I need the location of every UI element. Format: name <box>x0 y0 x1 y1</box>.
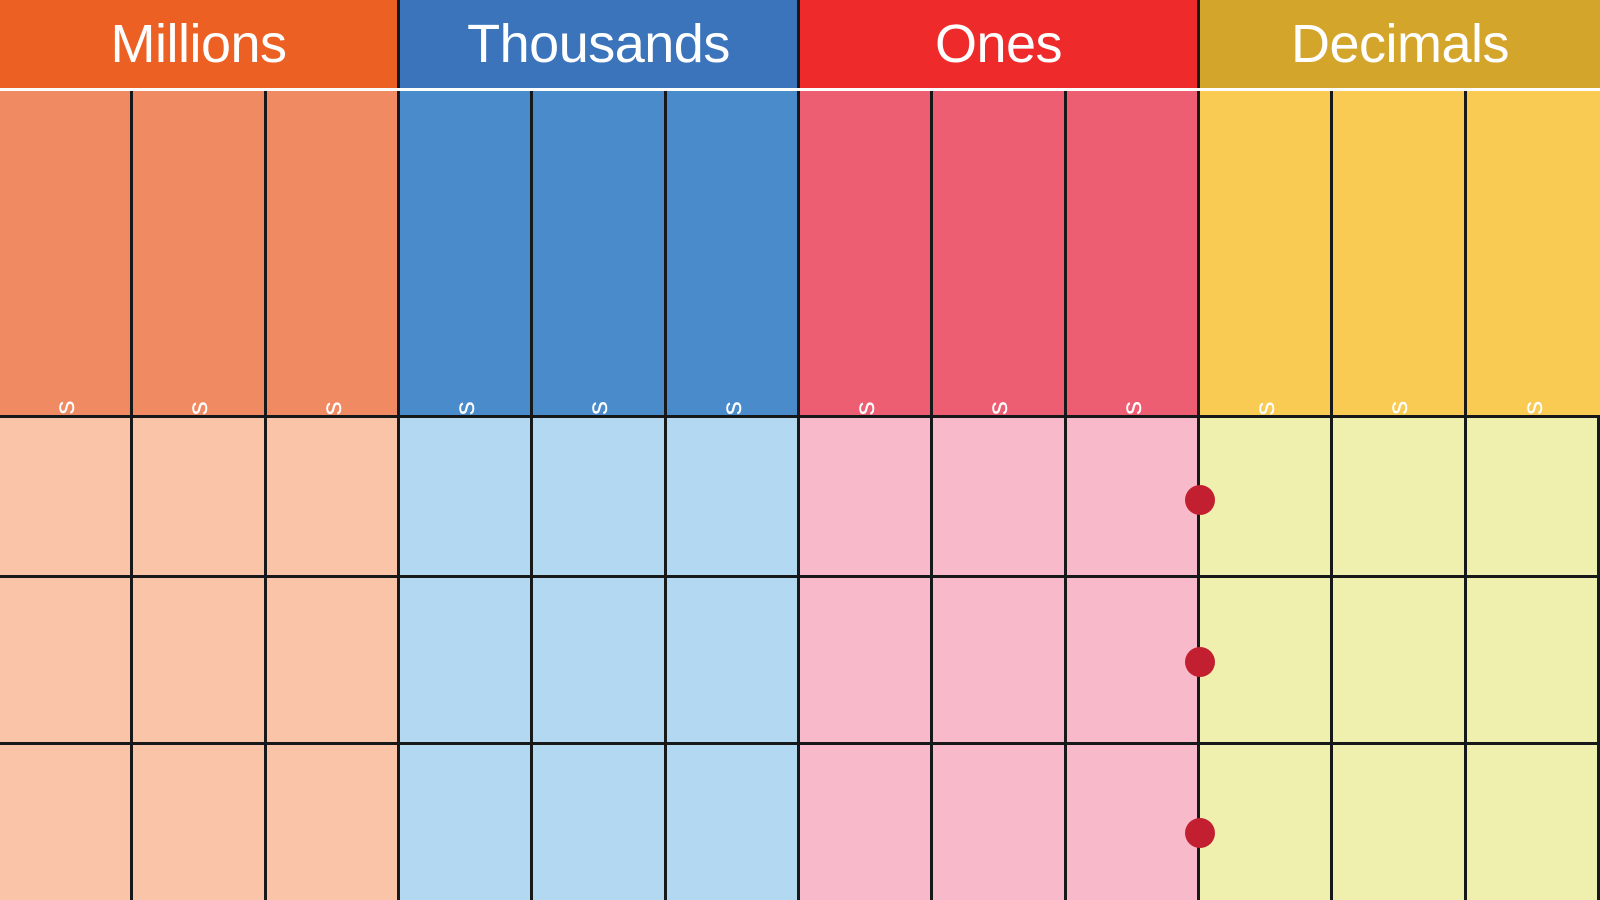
group-header-ones: Ones <box>800 0 1200 88</box>
digit-cell-hundredths[interactable] <box>1333 578 1466 742</box>
digit-cell-hundred-millions[interactable] <box>0 418 133 575</box>
digit-cell-hundred-thousands[interactable] <box>400 745 533 900</box>
entry-grid <box>0 418 1600 900</box>
column-label-cell: Ten Thousands <box>533 91 666 418</box>
table-row <box>0 578 1600 745</box>
digit-cell-hundred-thousands[interactable] <box>400 418 533 575</box>
column-label-hundred-thousands: Hundred Thousands <box>451 401 479 418</box>
group-header-millions: Millions <box>0 0 400 88</box>
digit-cell-thousands[interactable] <box>667 745 800 900</box>
column-label-cell: Hundredths <box>1333 91 1466 418</box>
column-label-thousands: thousands <box>718 401 746 418</box>
column-label-tenths: Tenths <box>1251 401 1279 418</box>
digit-cell-ten-thousands[interactable] <box>533 578 666 742</box>
digit-cell-millions[interactable] <box>267 578 400 742</box>
table-row <box>0 745 1600 900</box>
digit-cell-ten-millions[interactable] <box>133 745 266 900</box>
column-label-hundreds: Hundreds <box>851 401 879 418</box>
digit-cell-hundred-thousands[interactable] <box>400 578 533 742</box>
group-header-thousands: Thousands <box>400 0 800 88</box>
digit-cell-tenths[interactable] <box>1200 745 1333 900</box>
column-label-hundred-millions: Hundred Millions <box>51 401 79 418</box>
digit-cell-ten-thousands[interactable] <box>533 745 666 900</box>
digit-cell-thousandths[interactable] <box>1467 418 1600 575</box>
digit-cell-ten-millions[interactable] <box>133 418 266 575</box>
digit-cell-hundreds[interactable] <box>800 418 933 575</box>
digit-cell-hundred-millions[interactable] <box>0 578 133 742</box>
column-label-ones: Ones <box>1118 401 1146 418</box>
column-label-row: Hundred MillionsTen MillionsMillionsHund… <box>0 91 1600 418</box>
digit-cell-thousandths[interactable] <box>1467 745 1600 900</box>
digit-cell-ten-millions[interactable] <box>133 578 266 742</box>
digit-cell-hundredths[interactable] <box>1333 418 1466 575</box>
digit-cell-thousands[interactable] <box>667 578 800 742</box>
column-label-ten-millions: Ten Millions <box>184 401 212 418</box>
digit-cell-thousands[interactable] <box>667 418 800 575</box>
digit-cell-thousandths[interactable] <box>1467 578 1600 742</box>
column-label-cell: thousands <box>667 91 800 418</box>
column-label-cell: Hundred Thousands <box>400 91 533 418</box>
digit-cell-ones[interactable] <box>1067 745 1200 900</box>
digit-cell-tens[interactable] <box>933 578 1066 742</box>
column-label-tens: Tens <box>984 401 1012 418</box>
column-label-cell: Tens <box>933 91 1066 418</box>
digit-cell-ones[interactable] <box>1067 418 1200 575</box>
column-label-cell: Hundreds <box>800 91 933 418</box>
column-label-hundredths: Hundredths <box>1384 401 1412 418</box>
column-label-cell: Thousandths <box>1467 91 1600 418</box>
digit-cell-tenths[interactable] <box>1200 578 1333 742</box>
group-header-row: MillionsThousandsOnesDecimals <box>0 0 1600 88</box>
column-label-cell: Millions <box>267 91 400 418</box>
column-label-ten-thousands: Ten Thousands <box>584 401 612 418</box>
digit-cell-ten-thousands[interactable] <box>533 418 666 575</box>
column-label-cell: Tenths <box>1200 91 1333 418</box>
column-label-cell: Ones <box>1067 91 1200 418</box>
digit-cell-hundreds[interactable] <box>800 745 933 900</box>
column-label-thousandths: Thousandths <box>1519 401 1547 418</box>
place-value-chart: MillionsThousandsOnesDecimals Hundred Mi… <box>0 0 1600 900</box>
column-label-millions: Millions <box>318 401 346 418</box>
digit-cell-millions[interactable] <box>267 745 400 900</box>
digit-cell-ones[interactable] <box>1067 578 1200 742</box>
digit-cell-hundreds[interactable] <box>800 578 933 742</box>
column-label-cell: Ten Millions <box>133 91 266 418</box>
digit-cell-tens[interactable] <box>933 418 1066 575</box>
column-label-cell: Hundred Millions <box>0 91 133 418</box>
group-header-decimals: Decimals <box>1200 0 1600 88</box>
digit-cell-millions[interactable] <box>267 418 400 575</box>
digit-cell-hundredths[interactable] <box>1333 745 1466 900</box>
table-row <box>0 418 1600 578</box>
digit-cell-hundred-millions[interactable] <box>0 745 133 900</box>
digit-cell-tens[interactable] <box>933 745 1066 900</box>
digit-cell-tenths[interactable] <box>1200 418 1333 575</box>
